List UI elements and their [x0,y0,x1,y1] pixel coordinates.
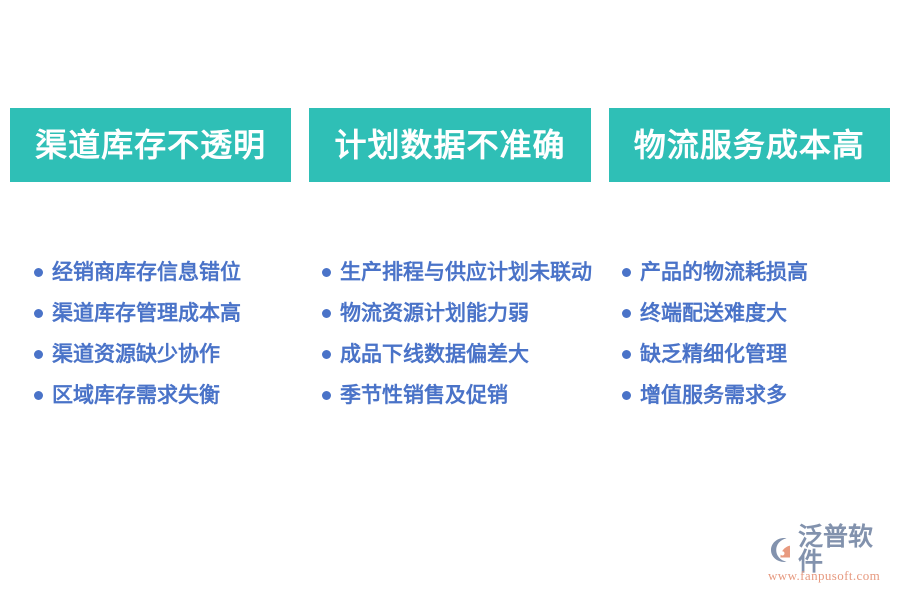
bullet-dot-icon [34,391,43,400]
brand-logo-top: 泛普软件 [766,534,896,566]
list-item-label: 缺乏精细化管理 [640,344,787,365]
list-item-label: 物流资源计划能力弱 [340,303,529,324]
header-title: 渠道库存不透明 [35,129,266,161]
bullet-dot-icon [622,309,631,318]
bullet-dot-icon [322,309,331,318]
bullet-column-logistics-cost: 产品的物流耗损高 终端配送难度大 缺乏精细化管理 增值服务需求多 [610,252,890,416]
list-item: 区域库存需求失衡 [10,375,290,416]
list-item: 增值服务需求多 [610,375,890,416]
list-item: 渠道资源缺少协作 [10,334,290,375]
bullet-dot-icon [622,350,631,359]
list-item: 终端配送难度大 [610,293,890,334]
list-item: 经销商库存信息错位 [10,252,290,293]
header-row: 渠道库存不透明 计划数据不准确 物流服务成本高 [10,108,890,182]
list-item: 产品的物流耗损高 [610,252,890,293]
bullet-dot-icon [622,391,631,400]
bullet-dot-icon [34,309,43,318]
list-item-label: 渠道资源缺少协作 [52,344,220,365]
header-box-plan-data: 计划数据不准确 [309,108,590,182]
list-item-label: 终端配送难度大 [640,303,787,324]
slide-canvas: 渠道库存不透明 计划数据不准确 物流服务成本高 经销商库存信息错位 渠道库存管理… [0,0,900,600]
bullet-dot-icon [322,391,331,400]
bullet-column-plan-data: 生产排程与供应计划未联动 物流资源计划能力弱 成品下线数据偏差大 季节性销售及促… [308,252,592,416]
list-item: 生产排程与供应计划未联动 [308,252,592,293]
list-item-label: 增值服务需求多 [640,385,787,406]
list-item-label: 生产排程与供应计划未联动 [340,262,592,283]
bullet-column-channel-inventory: 经销商库存信息错位 渠道库存管理成本高 渠道资源缺少协作 区域库存需求失衡 [10,252,290,416]
header-box-logistics-cost: 物流服务成本高 [609,108,890,182]
bullet-dot-icon [622,268,631,277]
header-box-channel-inventory: 渠道库存不透明 [10,108,291,182]
bullet-columns: 经销商库存信息错位 渠道库存管理成本高 渠道资源缺少协作 区域库存需求失衡 生产… [10,252,890,416]
brand-logo: 泛普软件 www.fanpusoft.com [766,534,896,584]
bullet-dot-icon [322,268,331,277]
list-item: 成品下线数据偏差大 [308,334,592,375]
list-item: 物流资源计划能力弱 [308,293,592,334]
list-item-label: 季节性销售及促销 [340,385,508,406]
bullet-dot-icon [34,350,43,359]
list-item-label: 经销商库存信息错位 [52,262,241,283]
brand-url: www.fanpusoft.com [768,569,896,582]
header-title: 计划数据不准确 [334,129,565,161]
bullet-dot-icon [34,268,43,277]
header-title: 物流服务成本高 [634,129,865,161]
list-item: 季节性销售及促销 [308,375,592,416]
list-item-label: 产品的物流耗损高 [640,262,808,283]
list-item: 渠道库存管理成本高 [10,293,290,334]
list-item-label: 区域库存需求失衡 [52,385,220,406]
list-item-label: 渠道库存管理成本高 [52,303,241,324]
bullet-dot-icon [322,350,331,359]
fanpu-crescent-logo-icon [766,535,796,565]
list-item-label: 成品下线数据偏差大 [340,344,529,365]
list-item: 缺乏精细化管理 [610,334,890,375]
